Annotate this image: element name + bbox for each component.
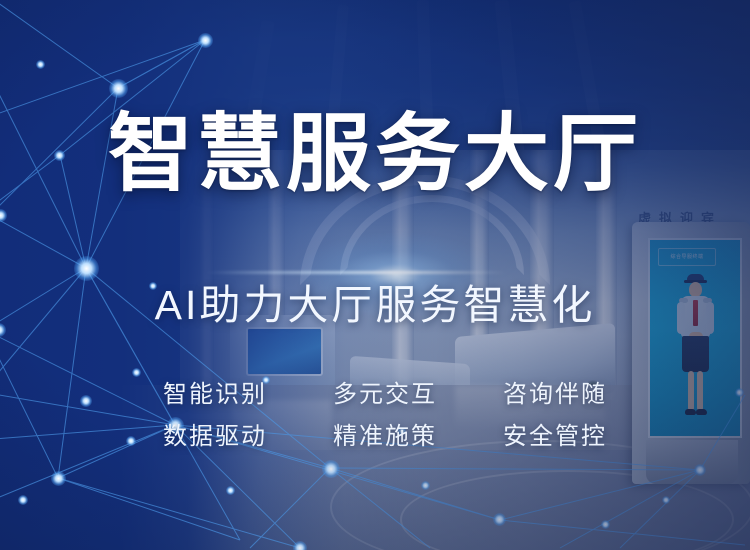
feature-tag: 智能识别 [130, 383, 300, 407]
smart-service-hall-banner: 虚拟迎宾 综合导服终端 [0, 0, 750, 550]
page-subtitle: AI助力大厅服务智慧化 [0, 285, 750, 326]
feature-tag: 多元交互 [300, 383, 470, 407]
network-node [132, 368, 141, 377]
network-node [18, 495, 28, 505]
network-node [735, 388, 744, 397]
page-title: 智慧服务大厅 [0, 112, 750, 197]
feature-tag: 精准施策 [300, 425, 470, 449]
network-node [493, 513, 506, 526]
network-node [80, 395, 92, 407]
network-node [662, 496, 670, 504]
network-node [421, 481, 430, 490]
feature-tag: 数据驱动 [130, 425, 300, 449]
network-constellation-graphic [0, 0, 750, 550]
network-node [226, 486, 235, 495]
network-node [198, 33, 213, 48]
feature-tag: 安全管控 [470, 425, 640, 449]
network-node [601, 520, 610, 529]
network-node [694, 464, 706, 476]
network-node [293, 541, 307, 550]
network-node [109, 79, 128, 98]
feature-tag-list: 智能识别 多元交互 咨询伴随 数据驱动 精准施策 安全管控 [130, 383, 640, 449]
network-node [74, 256, 99, 281]
feature-tag: 咨询伴随 [470, 383, 640, 407]
network-node [322, 460, 340, 478]
network-node [36, 60, 45, 69]
network-node [51, 471, 66, 486]
